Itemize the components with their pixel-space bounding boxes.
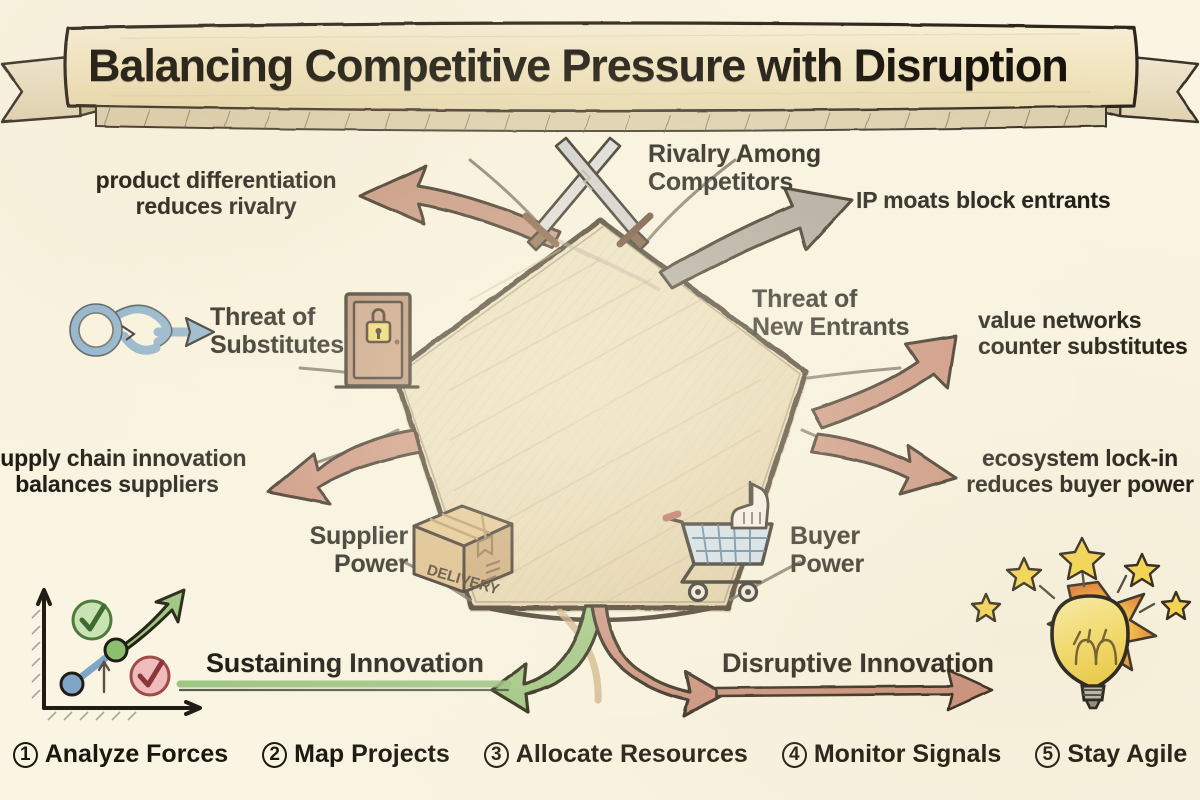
label-disruptive-innovation: Disruptive Innovation [722, 648, 994, 678]
step-label: Allocate Resources [516, 740, 748, 769]
step-label: Map Projects [294, 740, 450, 769]
step-number-icon: 4 [782, 742, 807, 768]
footer-step[interactable]: 4 Monitor Signals [782, 740, 1002, 769]
page-title: Balancing Competitive Pressure with Disr… [88, 40, 1118, 92]
force-label-buyer-power: Buyer Power [790, 522, 920, 578]
annotation-ip-moats: IP moats block entrants [856, 188, 1186, 214]
label-sustaining-innovation: Sustaining Innovation [206, 648, 484, 678]
step-number-icon: 1 [13, 742, 38, 768]
infographic-canvas: DELIVERY [0, 0, 1200, 800]
step-label: Analyze Forces [45, 740, 228, 769]
force-label-supplier-power: Supplier Power [300, 522, 408, 578]
annotation-value-networks: value networks counter substitutes [978, 308, 1200, 360]
footer-step[interactable]: 2 Map Projects [262, 740, 450, 769]
annotation-supply-chain: supply chain innovation balances supplie… [0, 446, 248, 498]
arrow-value-networks [812, 336, 956, 428]
arrow-ecosystem-lockin [812, 434, 956, 494]
arrow-supply-chain [268, 430, 420, 504]
step-number-icon: 2 [262, 742, 287, 768]
step-number-icon: 5 [1035, 742, 1060, 768]
arrow-ip-moats [660, 188, 852, 288]
step-label: Stay Agile [1067, 740, 1187, 769]
swirl-loop-arrow-icon [70, 304, 214, 356]
disruptive-branch-arrow [592, 606, 724, 716]
annotation-product-differentiation: product differentiation reduces rivalry [82, 168, 350, 220]
step-number-icon: 3 [484, 742, 509, 768]
force-label-substitutes: Threat of Substitutes [210, 303, 410, 359]
annotation-ecosystem-lockin: ecosystem lock-in reduces buyer power [958, 446, 1200, 498]
growth-chart-icon [32, 590, 200, 720]
step-label: Monitor Signals [814, 740, 1002, 769]
footer-step[interactable]: 3 Allocate Resources [484, 740, 748, 769]
lightbulb-burst-icon [972, 538, 1190, 708]
footer-step[interactable]: 5 Stay Agile [1035, 740, 1187, 769]
footer-steps: 1 Analyze Forces 2 Map Projects 3 Alloca… [0, 740, 1200, 769]
sustaining-underline [180, 684, 508, 690]
artwork-layer: DELIVERY [0, 0, 1200, 800]
force-label-new-entrants: Threat of New Entrants [752, 285, 972, 341]
delivery-box-icon: DELIVERY [414, 506, 512, 598]
footer-step[interactable]: 1 Analyze Forces [13, 740, 228, 769]
sustaining-branch-arrow [492, 606, 602, 712]
